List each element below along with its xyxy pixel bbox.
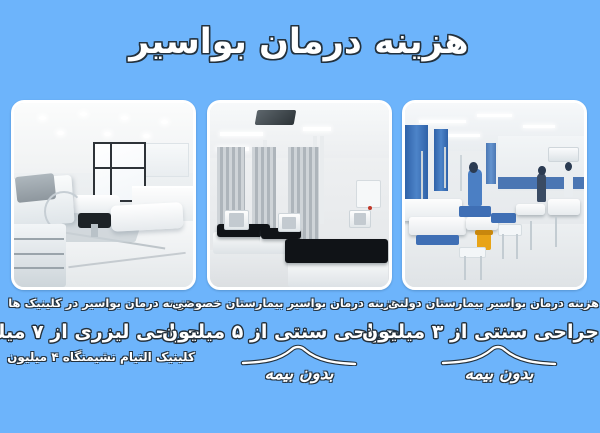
page-title: هزینه درمان بواسیر [0,22,600,62]
photo-row [12,100,588,290]
infographic-canvas: هزینه درمان بواسیر [0,0,600,433]
clinic-photo [15,103,194,287]
photo-card-private-hospital [208,100,393,290]
curly-brace-icon [240,344,360,366]
caption-insurance-public-hospital: بدون بیمه [400,364,600,384]
public-hospital-photo [406,103,585,287]
private-hospital-photo [211,103,390,287]
caption-heading-clinics: هزینه درمان بواسیر در کلینیک ها [2,296,202,310]
caption-price-public-hospital: جراحی سنتی از ۳ میلیون [400,321,600,343]
photo-card-clinic [12,100,197,290]
caption-heading-private-hospital: هزینه درمان بواسیر بیمارستان خصوصی [200,296,400,310]
caption-insurance-private-hospital: بدون بیمه [200,364,400,384]
caption-row: هزینه درمان بواسیر در کلینیک ها جراحی لی… [0,296,600,433]
staff-figure [565,169,574,197]
staff-figure [538,173,547,202]
staff-figure [469,169,483,206]
curly-brace-icon [440,344,560,366]
caption-heading-public-hospital: هزینه درمان بواسیر بیمارستان دولتی [400,296,600,310]
caption-subnote-clinics: کلینیک التیام نشیمنگاه ۴ میلیون [2,350,202,364]
caption-public-hospital: هزینه درمان بواسیر بیمارستان دولتی جراحی… [400,296,600,384]
photo-card-public-hospital [403,100,588,290]
